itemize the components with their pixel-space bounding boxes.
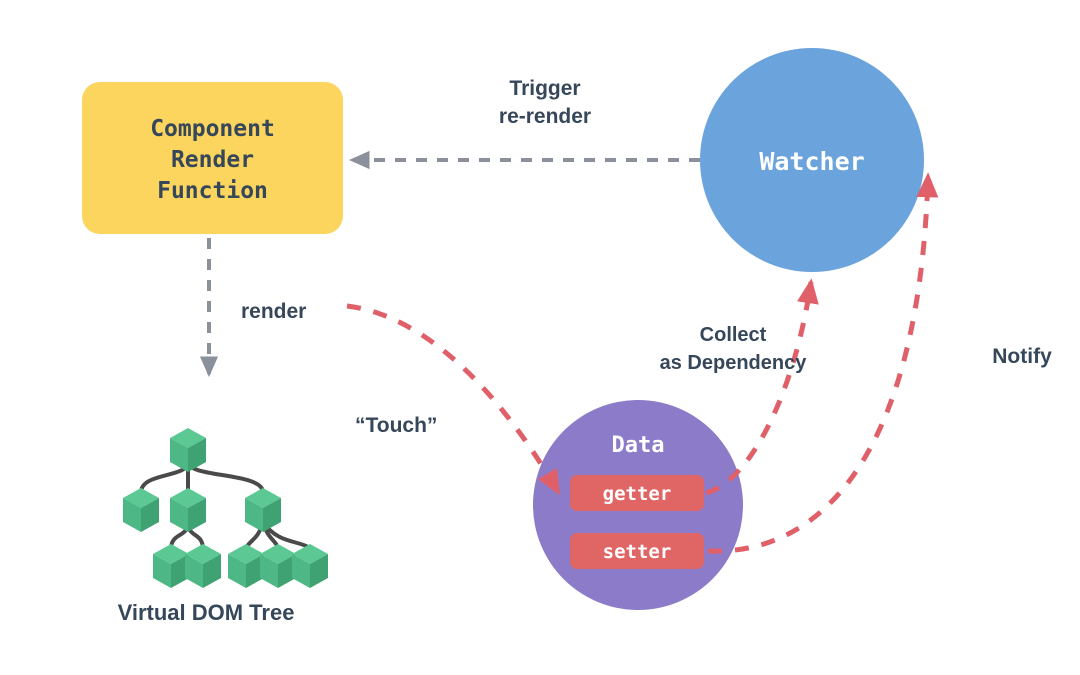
watcher-node[interactable]: Watcher xyxy=(700,48,924,272)
edge-render: render xyxy=(209,238,306,374)
virtual-dom-tree[interactable]: Virtual DOM Tree xyxy=(118,428,328,625)
cube-grandchild-2 xyxy=(185,544,221,588)
setter-slot[interactable]: setter xyxy=(570,533,704,569)
cube-child-3 xyxy=(245,488,281,532)
touch-label: “Touch” xyxy=(355,414,437,437)
cube-child-2 xyxy=(170,488,206,532)
setter-label: setter xyxy=(603,541,672,563)
tree-cubes xyxy=(123,428,328,588)
component-render-function-label-line3: Function xyxy=(157,178,268,204)
watcher-label: Watcher xyxy=(759,147,864,176)
getter-label: getter xyxy=(603,483,672,505)
cube-child-1 xyxy=(123,488,159,532)
component-render-function-node[interactable]: Component Render Function xyxy=(82,82,343,234)
edge-touch: “Touch” xyxy=(347,306,558,492)
edge-trigger-rerender: Trigger re-render xyxy=(352,77,700,160)
cube-grandchild-1 xyxy=(153,544,189,588)
trigger-rerender-label-line2: re-render xyxy=(499,105,591,128)
virtual-dom-tree-label: Virtual DOM Tree xyxy=(118,600,295,625)
tree-edges xyxy=(141,462,310,548)
collect-as-dependency-label-line2: as Dependency xyxy=(660,352,808,374)
cube-grandchild-4 xyxy=(260,544,296,588)
collect-as-dependency-label-line1: Collect xyxy=(700,324,767,346)
cube-grandchild-5 xyxy=(292,544,328,588)
touch-arrow xyxy=(347,306,558,492)
trigger-rerender-label-line1: Trigger xyxy=(509,77,580,100)
data-label: Data xyxy=(612,433,665,458)
component-render-function-label-line1: Component xyxy=(150,116,275,142)
notify-label: Notify xyxy=(992,345,1052,368)
getter-slot[interactable]: getter xyxy=(570,475,704,511)
render-label: render xyxy=(241,300,306,323)
cube-grandchild-3 xyxy=(228,544,264,588)
diagram-svg: Component Render Function Watcher Data g… xyxy=(0,0,1080,675)
cube-root xyxy=(170,428,206,472)
data-node[interactable]: Data getter setter xyxy=(533,400,743,610)
diagram-canvas: Component Render Function Watcher Data g… xyxy=(0,0,1080,675)
component-render-function-label-line2: Render xyxy=(171,147,254,173)
